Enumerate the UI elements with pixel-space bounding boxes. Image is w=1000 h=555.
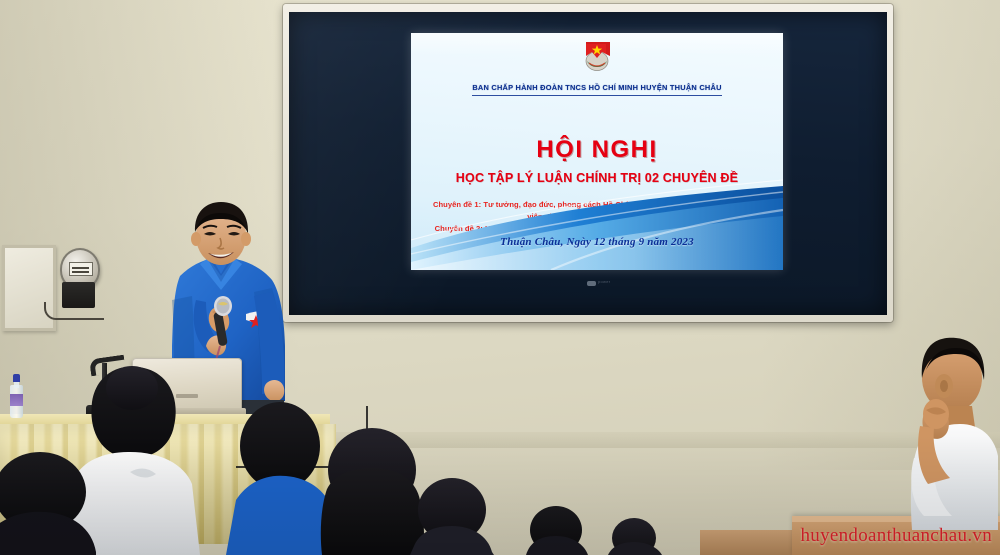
projected-slide: BAN CHẤP HÀNH ĐOÀN TNCS HỒ CHÍ MINH HUYỆ… xyxy=(411,33,783,270)
slide-organization-line: BAN CHẤP HÀNH ĐOÀN TNCS HỒ CHÍ MINH HUYỆ… xyxy=(411,83,783,92)
slide-wave-decoration xyxy=(411,178,783,270)
wall-panel-box-icon xyxy=(2,245,56,331)
photo-canvas: BAN CHẤP HÀNH ĐOÀN TNCS HỒ CHÍ MINH HUYỆ… xyxy=(0,0,1000,555)
site-watermark: huyendoanthuanchau.vn xyxy=(801,525,993,547)
youth-union-emblem-icon xyxy=(577,39,617,72)
electric-meter-dial xyxy=(69,262,93,276)
screen-power-indicator xyxy=(587,281,596,286)
slide-title: HỘI NGHỊ xyxy=(411,138,783,162)
audience-silhouettes xyxy=(0,360,760,555)
electric-meter-wire xyxy=(44,302,104,320)
slide-date-line: Thuận Châu, Ngày 12 tháng 9 năm 2023 xyxy=(411,236,783,248)
seated-attendee-right xyxy=(890,330,1000,555)
slide-organization-underline xyxy=(472,95,722,96)
screen-power-label: power xyxy=(598,279,610,284)
